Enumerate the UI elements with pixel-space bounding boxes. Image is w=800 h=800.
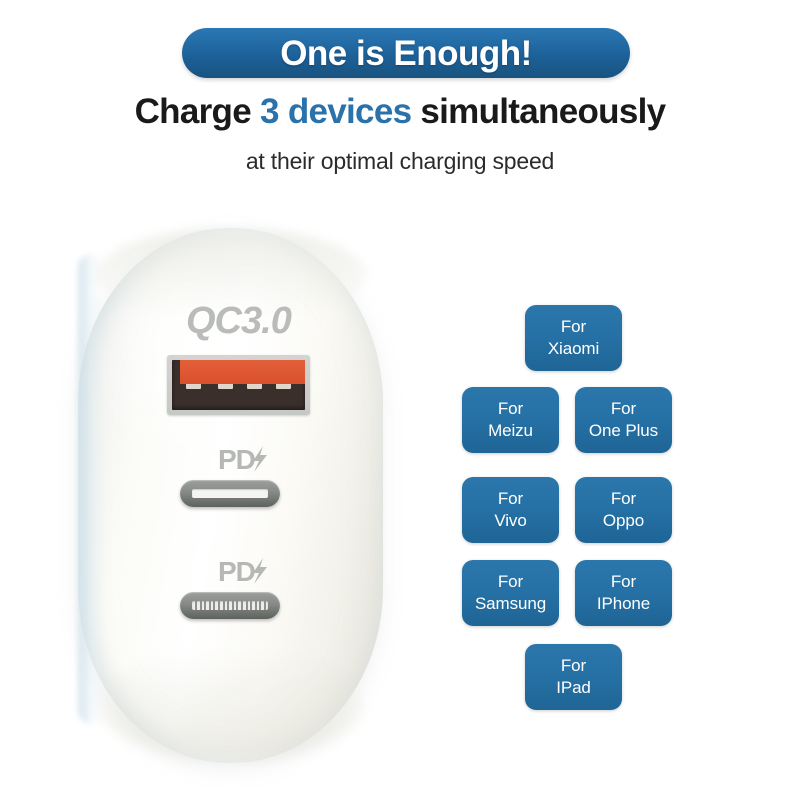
brand-badge-vivo: ForVivo — [462, 477, 559, 543]
usb-a-cavity — [172, 360, 305, 410]
usb-c-pin — [246, 601, 248, 610]
subheadline-suffix: simultaneously — [411, 92, 665, 131]
usb-c-pin — [264, 601, 266, 610]
brand-badge-meizu: ForMeizu — [462, 387, 559, 453]
usb-a-pin — [186, 384, 201, 389]
headline-banner-text: One is Enough! — [280, 36, 532, 71]
subheadline-accent: 3 devices — [260, 92, 411, 131]
usb-c-pin — [259, 601, 261, 610]
usb-c-pin — [213, 601, 215, 610]
pd-label-bottom: PD — [218, 558, 270, 586]
usb-a-tongue — [180, 360, 305, 384]
usb-a-pin — [276, 384, 291, 389]
badge-line-2: Xiaomi — [548, 338, 599, 360]
usb-c-pin — [227, 601, 229, 610]
brand-badge-iphone: ForIPhone — [575, 560, 672, 626]
usb-c-pin — [204, 601, 206, 610]
charger-bottom-shading — [100, 649, 362, 759]
badge-line-1: For — [498, 571, 523, 593]
brand-badge-one-plus: ForOne Plus — [575, 387, 672, 453]
usb-c-pin — [195, 601, 197, 610]
tagline: at their optimal charging speed — [0, 148, 800, 175]
usb-c-inner-contact — [192, 601, 268, 610]
usb-a-pin — [247, 384, 262, 389]
usb-c-pin — [255, 601, 257, 610]
usb-c-port-bottom — [180, 592, 280, 619]
lightning-bolt-icon — [248, 558, 270, 584]
usb-c-port-top — [180, 480, 280, 507]
usb-c-pin — [223, 601, 225, 610]
pd-label-top: PD — [218, 446, 270, 474]
usb-c-pin — [250, 601, 252, 610]
usb-a-pin — [218, 384, 233, 389]
brand-badge-ipad: ForIPad — [525, 644, 622, 710]
badge-line-1: For — [498, 488, 523, 510]
badge-line-2: IPhone — [597, 593, 650, 615]
badge-line-2: One Plus — [589, 420, 658, 442]
usb-c-pin — [241, 601, 243, 610]
brand-badge-xiaomi: ForXiaomi — [525, 305, 622, 371]
badge-line-2: Samsung — [475, 593, 546, 615]
usb-a-port — [167, 355, 310, 415]
badge-line-2: Oppo — [603, 510, 644, 532]
subheadline: Charge 3 devices simultaneously — [0, 92, 800, 132]
badge-line-1: For — [498, 398, 523, 420]
usb-c-pin — [232, 601, 234, 610]
headline-banner: One is Enough! — [182, 28, 630, 78]
badge-line-1: For — [561, 316, 586, 338]
badge-line-2: Meizu — [488, 420, 533, 442]
badge-line-2: Vivo — [494, 510, 526, 532]
usb-c-inner-contact — [192, 489, 268, 498]
badge-line-1: For — [561, 655, 586, 677]
usb-c-pin — [236, 601, 238, 610]
lightning-bolt-icon — [248, 446, 270, 472]
badge-line-1: For — [611, 571, 636, 593]
subheadline-prefix: Charge — [135, 92, 260, 131]
qc3-label: QC3.0 — [186, 300, 291, 343]
charger-left-rim-highlight — [78, 254, 104, 724]
usb-c-pin — [200, 601, 202, 610]
badge-line-2: IPad — [556, 677, 591, 699]
usb-c-pin — [218, 601, 220, 610]
badge-line-1: For — [611, 398, 636, 420]
charger-product-image: QC3.0 PD PD — [78, 228, 383, 763]
brand-badge-samsung: ForSamsung — [462, 560, 559, 626]
usb-c-pin — [209, 601, 211, 610]
brand-badge-oppo: ForOppo — [575, 477, 672, 543]
badge-line-1: For — [611, 488, 636, 510]
